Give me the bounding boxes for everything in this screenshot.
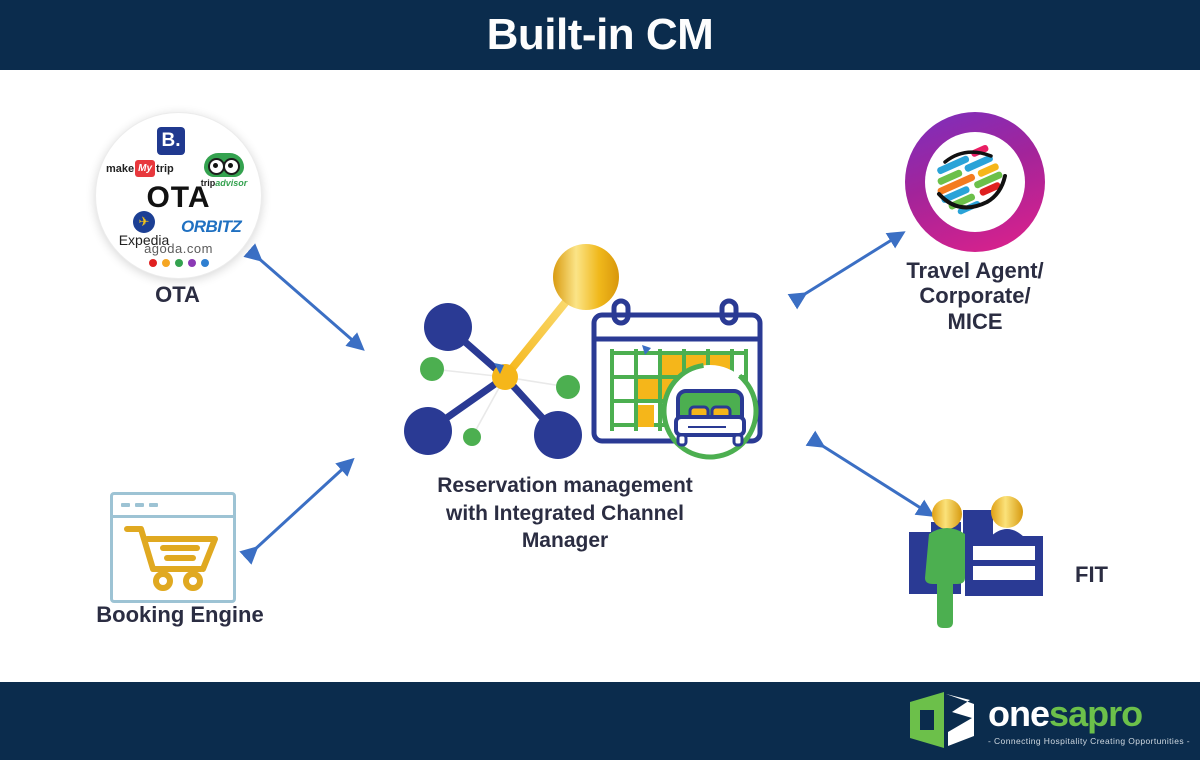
owl-eye-right-icon [223,158,240,175]
logo-one: one [988,693,1049,734]
agoda-wordmark: agoda.com [96,241,261,256]
logo-sapro: sapro [1049,693,1142,734]
page-title: Built-in CM [487,13,714,57]
arrow-booking-engine [252,464,348,552]
fit-reception-icon[interactable] [905,480,1065,630]
center-caption: Reservation management with Integrated C… [385,472,745,555]
globe-inner [925,132,1025,232]
label-travel-agent-line2: Corporate/ [880,283,1070,308]
agoda-dots [96,259,261,267]
center-illustration[interactable] [390,235,780,465]
browser-title-bar [113,495,233,518]
orbitz-logo: ORBITZ [181,217,241,237]
label-fit: FIT [1075,562,1155,587]
booking-com-logo: B. [157,127,185,155]
booking-engine-icon[interactable] [110,492,236,603]
logo-tagline: - Connecting Hospitality Creating Opport… [988,736,1190,746]
label-travel-agent-line3: MICE [880,309,1070,334]
label-ota: OTA [95,282,260,307]
makemytrip-part1: make [106,163,134,175]
makemytrip-logo: make My trip [106,160,174,177]
onesapro-mark-icon [908,690,986,750]
network-nodes [404,244,619,459]
slide-footer: onesapro - Connecting Hospitality Creati… [0,682,1200,760]
center-caption-line2: with Integrated Channel [385,500,745,528]
tripadvisor-owl-icon [204,153,244,177]
logo-word: onesapro [988,696,1190,732]
makemytrip-part3: trip [156,163,174,175]
agoda-logo: agoda.com [96,241,261,267]
onesapro-logo[interactable]: onesapro - Connecting Hospitality Creati… [908,690,1190,750]
slide-header: Built-in CM [0,0,1200,70]
shopping-cart-icon [123,521,223,591]
label-booking-engine: Booking Engine [60,602,300,627]
onesapro-wordmark: onesapro - Connecting Hospitality Creati… [988,690,1190,746]
makemytrip-part2: My [135,160,155,177]
arrow-ota [256,256,358,345]
center-caption-line1: Reservation management [385,472,745,500]
slide-canvas: Built-in CM B. make My trip [0,0,1200,760]
ota-center-word: OTA [96,181,261,215]
ota-logo-circle[interactable]: B. make My trip tripadvisor OTA ✈ Expedi… [95,112,262,279]
label-travel-agent: Travel Agent/ Corporate/ MICE [880,258,1070,334]
center-caption-line3: Manager [385,527,745,555]
travel-agent-globe-icon[interactable] [905,112,1045,252]
expedia-plane-icon: ✈ [133,211,155,233]
label-travel-agent-line1: Travel Agent/ [880,258,1070,283]
